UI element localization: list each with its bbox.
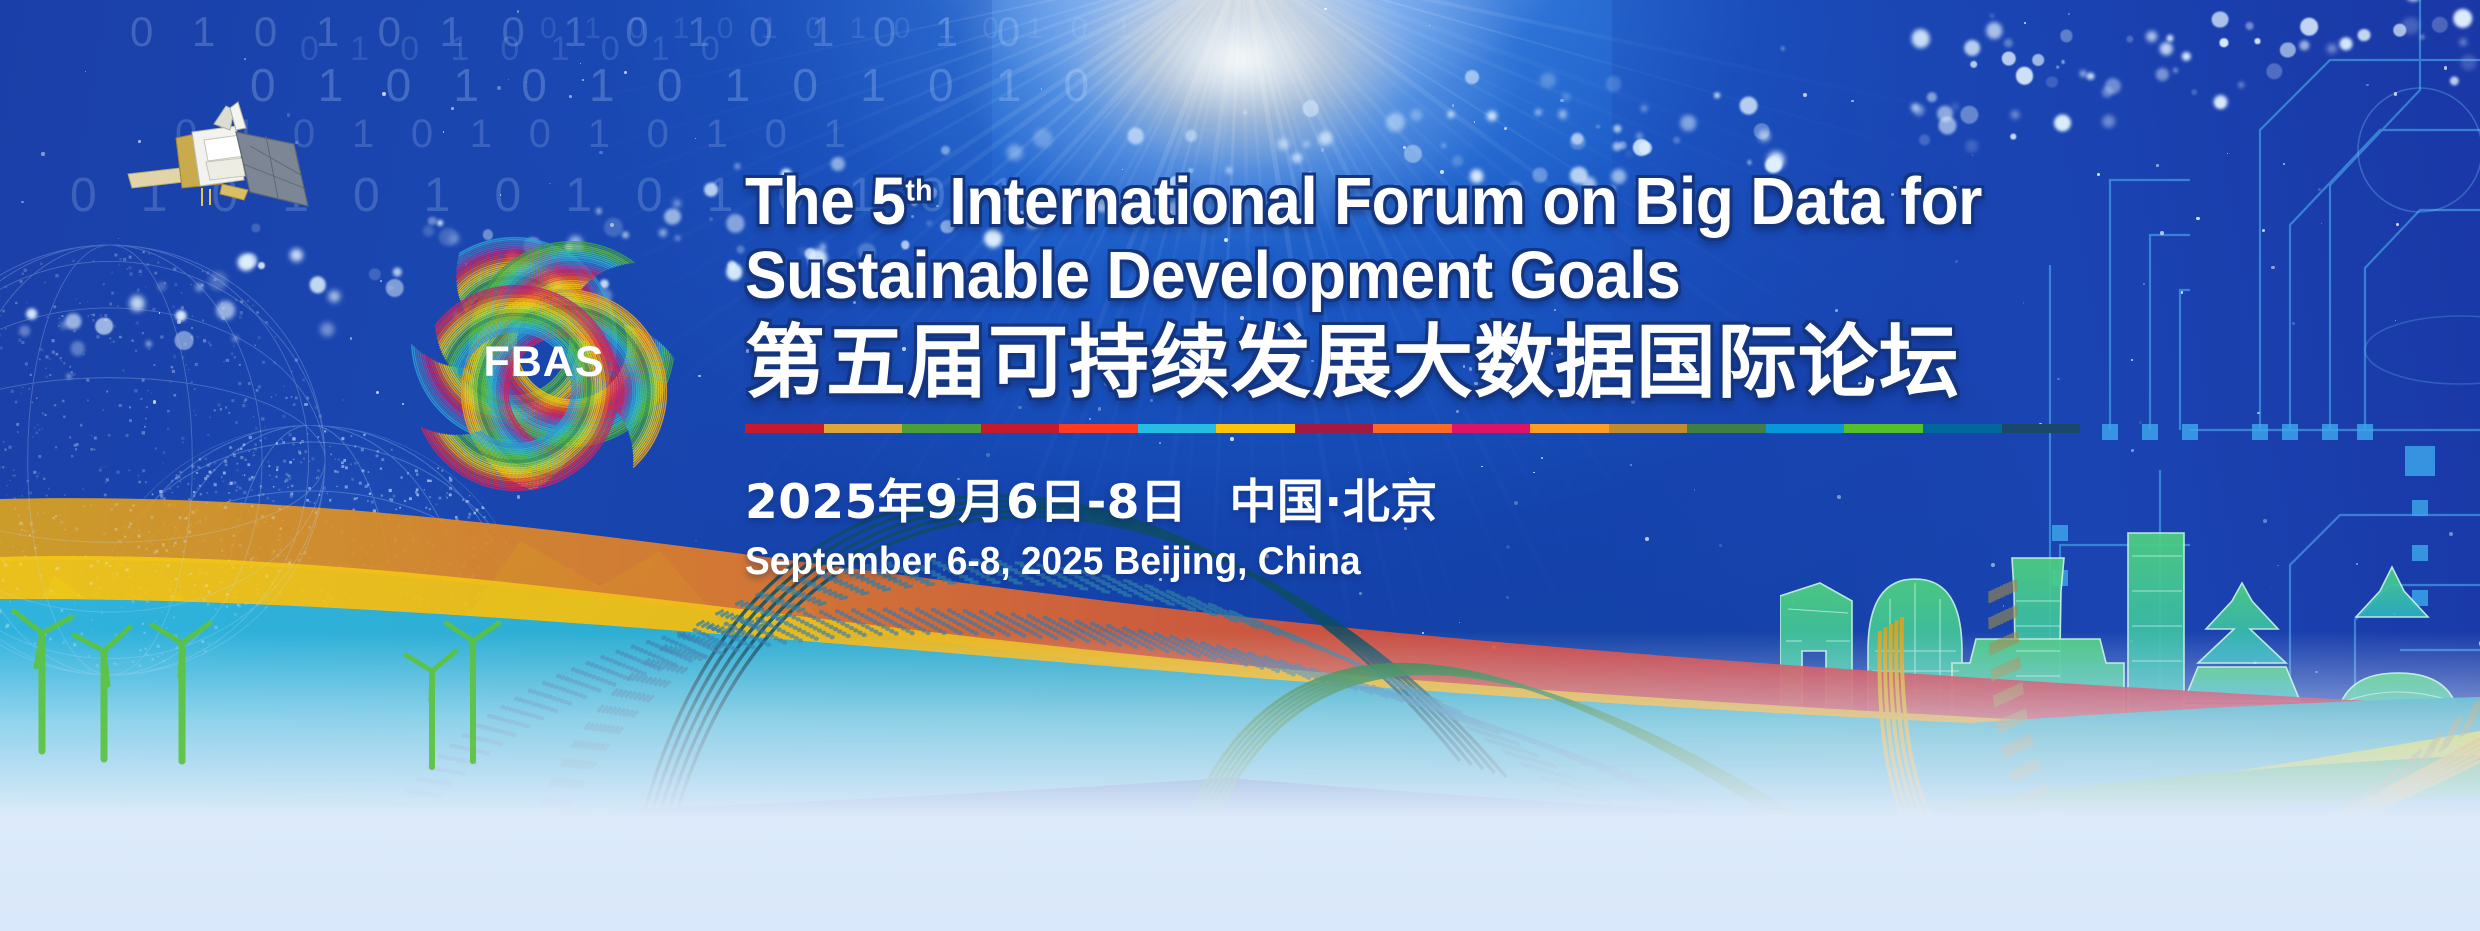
bokeh-dot: [2166, 34, 2175, 43]
bokeh-dot: [369, 268, 382, 281]
bokeh-dot: [2460, 53, 2478, 71]
bokeh-dot: [1596, 125, 1600, 129]
bokeh-dot: [2339, 36, 2353, 50]
star: [2024, 22, 2026, 24]
bokeh-dot: [1410, 109, 1423, 122]
date-chinese: 2025年9月6日-8日中国·北京: [745, 463, 2145, 532]
bokeh-dot: [2159, 42, 2173, 56]
bokeh-dot: [1714, 92, 1721, 99]
sdg-color-segment: [1923, 424, 2002, 433]
bokeh-dot: [2279, 41, 2296, 58]
bokeh-dot: [1605, 76, 1622, 93]
bokeh-dot: [1963, 39, 1981, 57]
bokeh-dot: [2401, 16, 2420, 35]
banner-content: The 5th International Forum on Big Data …: [745, 165, 2145, 584]
bokeh-dot: [1959, 105, 1979, 125]
bokeh-dot: [2357, 28, 2371, 42]
sdg-color-segment: [1452, 424, 1531, 433]
bokeh-dot: [2104, 77, 2122, 95]
conference-banner: 0 1 0 1 0 1 0 1 0 1 0 1 0 1 00 1 0 1 0 1…: [0, 0, 2480, 931]
sdg-color-segment: [1295, 424, 1374, 433]
bokeh-dot: [2056, 65, 2060, 69]
bokeh-dot: [2061, 60, 2065, 64]
bokeh-dot: [1738, 95, 1758, 115]
bokeh-dot: [2327, 43, 2338, 54]
bokeh-dot: [1486, 110, 1497, 121]
bokeh-dot: [2460, 39, 2466, 45]
bokeh-dot: [1641, 105, 1648, 112]
bokeh-dot: [1278, 138, 1290, 150]
bokeh-dot: [2254, 38, 2260, 44]
title-ordinal-suffix: th: [905, 173, 932, 208]
bokeh-dot: [1318, 130, 1333, 145]
bokeh-dot: [736, 245, 745, 254]
bokeh-dot: [1385, 112, 1406, 133]
bokeh-dot: [2181, 52, 2191, 62]
star: [2156, 164, 2159, 167]
star: [2366, 84, 2369, 87]
bokeh-dot: [1612, 141, 1622, 151]
star: [1429, 25, 1430, 26]
star: [1851, 100, 1854, 103]
star: [2196, 217, 2199, 220]
star: [1321, 148, 1325, 152]
bokeh-dot: [1911, 103, 1919, 111]
sdg-color-segment: [1138, 424, 1217, 433]
title-english-pre: The 5: [745, 164, 905, 239]
sdg-color-segment: [1687, 424, 1766, 433]
sdg-color-segment: [1609, 424, 1688, 433]
bokeh-dot: [2191, 89, 2198, 96]
bokeh-dot: [2126, 35, 2134, 43]
bokeh-dot: [2080, 70, 2087, 77]
bokeh-dot: [1626, 151, 1632, 157]
bokeh-dot: [1559, 110, 1567, 118]
bokeh-dot: [1447, 110, 1455, 118]
star: [244, 58, 246, 60]
bokeh-dot: [2004, 38, 2014, 48]
bokeh-dot: [2060, 29, 2074, 43]
title-english: The 5th International Forum on Big Data …: [745, 165, 2047, 239]
sdg-color-segment: [902, 424, 981, 433]
bokeh-dot: [2211, 10, 2230, 29]
bokeh-dot: [2086, 72, 2095, 81]
bokeh-dot: [2404, 0, 2422, 3]
sdg-color-segment: [824, 424, 903, 433]
bokeh-dot: [2001, 51, 2017, 67]
bokeh-dot: [1291, 153, 1303, 165]
bokeh-dot: [2239, 82, 2244, 87]
location-chinese: 中国·北京: [1229, 475, 1437, 530]
star: [2227, 153, 2228, 154]
title-english-post: International Forum on Big Data for: [932, 164, 1981, 239]
bokeh-dot: [1952, 103, 1958, 109]
bokeh-dot: [1569, 134, 1587, 152]
bokeh-dot: [1964, 139, 1979, 154]
bokeh-dot: [1918, 133, 1931, 146]
bokeh-dot: [1441, 143, 1446, 148]
bokeh-dot: [2265, 62, 2283, 80]
bokeh-dot: [2015, 66, 2034, 85]
title-english-line2: Sustainable Development Goals: [745, 239, 2047, 313]
bokeh-dot: [2245, 22, 2254, 31]
bokeh-dot: [2299, 16, 2319, 36]
bokeh-dot: [2173, 68, 2177, 72]
sdg-color-segment: [2002, 424, 2081, 433]
sdg-color-segment: [981, 424, 1060, 433]
bokeh-dot: [1672, 136, 1680, 144]
bokeh-dot: [1680, 114, 1697, 131]
bokeh-dot: [2449, 76, 2459, 86]
bokeh-dot: [1926, 91, 1937, 102]
title-chinese: 第五届可持续发展大数据国际论坛: [745, 321, 2145, 406]
sdg-color-segment: [1530, 424, 1609, 433]
star: [380, 280, 382, 282]
bokeh-dot: [1613, 124, 1622, 133]
star: [2321, 223, 2322, 224]
star: [2160, 231, 2164, 235]
satellite-icon: [118, 88, 338, 238]
sdg-color-segment: [1059, 424, 1138, 433]
sdg-color-segment: [1766, 424, 1845, 433]
star: [1403, 146, 1406, 149]
bokeh-dot: [2155, 67, 2169, 81]
bokeh-dot: [2453, 8, 2474, 29]
bokeh-dot: [2046, 75, 2059, 88]
sdg-color-segment: [1844, 424, 1923, 433]
bokeh-dot: [2010, 133, 2016, 139]
star: [2283, 163, 2284, 164]
sdg-color-bar: [745, 424, 2080, 433]
bokeh-dot: [2431, 16, 2449, 34]
bokeh-dot: [1535, 109, 1542, 116]
star: [2394, 92, 2397, 95]
sdg-color-segment: [1373, 424, 1452, 433]
bokeh-dot: [1303, 141, 1309, 147]
binary-digit-row: 0 1 0 1 0 1 0 1 0 1 0 1 0 1 0: [540, 12, 1185, 46]
bokeh-dot: [2299, 40, 2310, 51]
bokeh-dot: [1970, 60, 1978, 68]
bokeh-dot: [2101, 114, 2116, 129]
bokeh-dot: [2053, 113, 2072, 132]
wind-turbines: [0, 371, 820, 931]
date-english: September 6-8, 2025 Beijing, China: [745, 540, 2075, 584]
bokeh-dot: [2010, 110, 2020, 120]
star: [2444, 66, 2448, 70]
bokeh-dot: [2420, 35, 2425, 40]
star: [41, 152, 44, 155]
sdg-color-segment: [1216, 424, 1295, 433]
bokeh-dot: [2031, 54, 2044, 67]
bokeh-dot: [2146, 30, 2158, 42]
bokeh-dot: [2219, 38, 2228, 47]
bokeh-dot: [1184, 129, 1197, 142]
star: [1324, 8, 1326, 10]
